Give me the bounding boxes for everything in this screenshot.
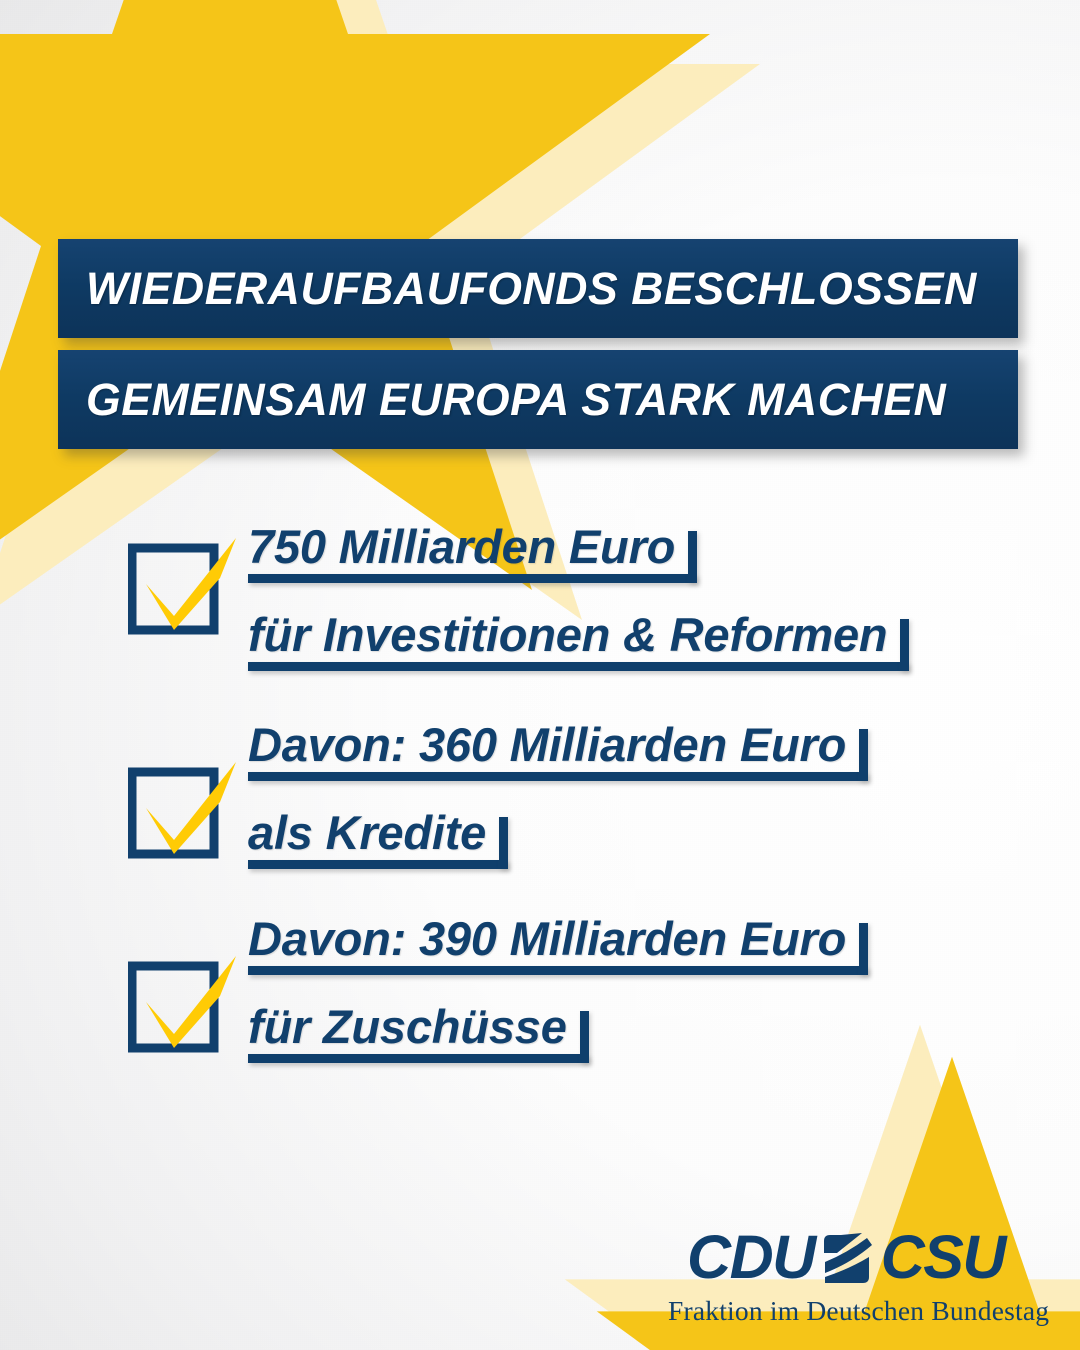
list-item-text: 750 Milliarden Euro für Investitionen & … [248,520,1080,674]
checkbox-checked-icon [128,756,218,846]
underline-tick [900,619,909,671]
list-item-line: für Zuschüsse [248,1002,589,1052]
list-item: Davon: 360 Milliarden Euro als Kredite [0,718,1080,908]
underline-tick [580,1011,589,1063]
bullet-list: 750 Milliarden Euro für Investitionen & … [0,520,1080,1102]
list-item: 750 Milliarden Euro für Investitionen & … [0,520,1080,712]
headline-line-1: WIEDERAUFBAUFONDS BESCHLOSSEN [86,266,977,311]
logo-subtitle: Fraktion im Deutschen Bundestag [668,1297,1024,1325]
list-item-line: als Kredite [248,808,508,858]
underline-tick [859,923,868,975]
checkbox-checked-icon [128,950,218,1040]
checkbox-checked-icon [128,532,218,622]
list-item-text: Davon: 360 Milliarden Euro als Kredite [248,718,1080,872]
underline-rule [248,772,868,781]
underline-tick [859,729,868,781]
cdu-csu-logo: CDU CSU Fraktion im Deutschen Bundestag [668,1227,1024,1325]
underline-rule [248,574,697,583]
logo-wordmark: CDU CSU [668,1227,1024,1288]
logo-word-csu: CSU [881,1227,1005,1288]
underline-rule [248,860,508,869]
underline-tick [688,531,697,583]
underline-rule [248,966,868,975]
list-item-line-text: Davon: 390 Milliarden Euro [248,914,846,964]
logo-word-cdu: CDU [687,1227,815,1288]
list-item-line-text: für Investitionen & Reformen [248,610,887,660]
list-item-line: 750 Milliarden Euro [248,522,697,572]
cdu-csu-swoosh-icon [817,1231,879,1285]
list-item: Davon: 390 Milliarden Euro für Zuschüsse [0,912,1080,1102]
headline-banner-2: GEMEINSAM EUROPA STARK MACHEN [58,350,1018,449]
headline-banner-1: WIEDERAUFBAUFONDS BESCHLOSSEN [58,239,1018,338]
list-item-line-text: Davon: 360 Milliarden Euro [248,720,846,770]
list-item-line-text: als Kredite [248,808,486,858]
underline-tick [499,817,508,869]
list-item-line: für Investitionen & Reformen [248,610,909,660]
list-item-line: Davon: 390 Milliarden Euro [248,914,868,964]
social-card: WIEDERAUFBAUFONDS BESCHLOSSEN GEMEINSAM … [0,0,1080,1350]
list-item-line-text: für Zuschüsse [248,1002,567,1052]
headline-line-2: GEMEINSAM EUROPA STARK MACHEN [86,377,946,422]
underline-rule [248,1054,589,1063]
underline-rule [248,662,909,671]
list-item-text: Davon: 390 Milliarden Euro für Zuschüsse [248,912,1080,1066]
headline-banners: WIEDERAUFBAUFONDS BESCHLOSSEN GEMEINSAM … [58,239,1018,449]
list-item-line: Davon: 360 Milliarden Euro [248,720,868,770]
list-item-line-text: 750 Milliarden Euro [248,522,675,572]
